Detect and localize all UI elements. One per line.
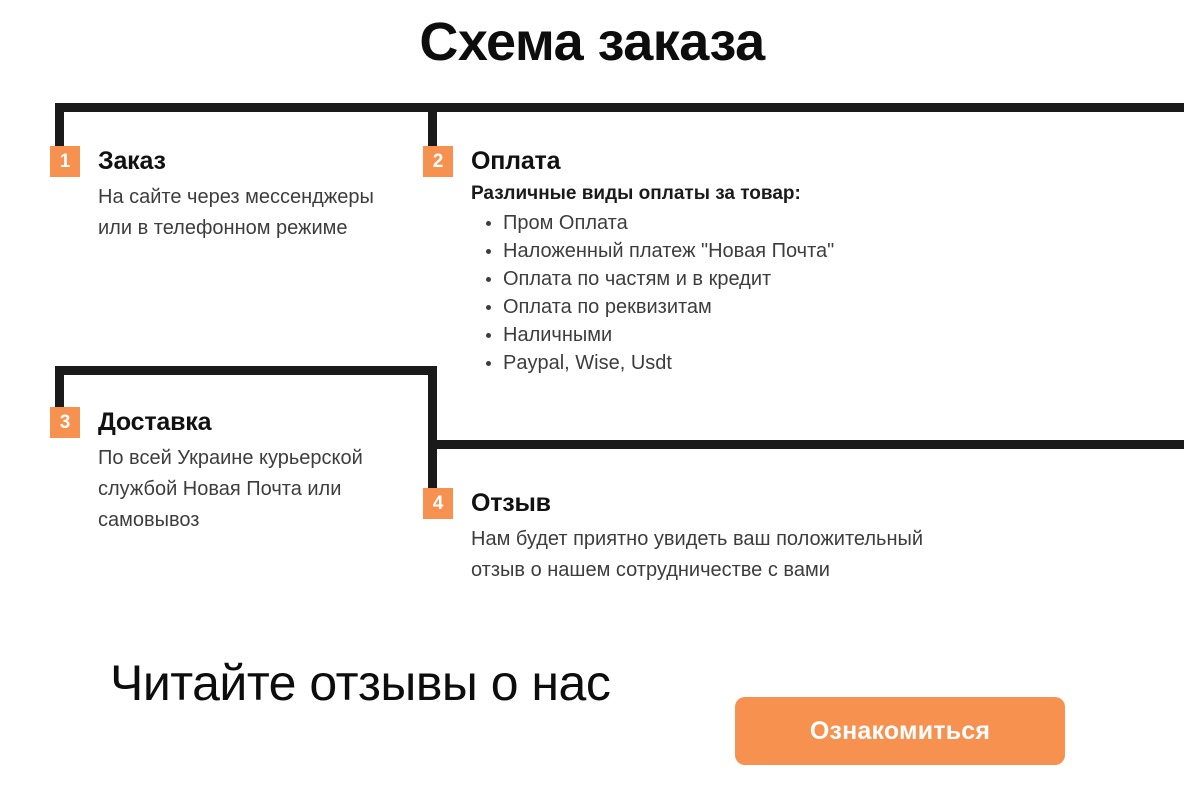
connector-drop-step-1 — [55, 103, 64, 149]
connector-rail-middle — [55, 366, 437, 375]
step-heading-4: Отзыв — [471, 488, 943, 518]
connector-drop-step-2 — [428, 103, 437, 149]
payment-types-list: Пром Оплата Наложенный платеж "Новая Поч… — [471, 209, 963, 377]
connector-drop-step-3 — [55, 366, 64, 411]
step-heading-1: Заказ — [98, 146, 380, 176]
read-reviews-button[interactable]: Ознакомиться — [735, 697, 1065, 765]
connector-drop-step-4 — [428, 366, 437, 492]
step-text-4: Нам будет приятно увидеть ваш положитель… — [471, 524, 943, 586]
list-item: Оплата по частям и в кредит — [471, 265, 963, 293]
payment-types-subtitle: Различные виды оплаты за товар: — [471, 181, 963, 207]
step-heading-3: Доставка — [98, 407, 380, 437]
step-text-1: На сайте через мессенджеры или в телефон… — [98, 182, 380, 244]
step-block-payment: 2 Оплата Различные виды оплаты за товар:… — [423, 146, 963, 377]
step-badge-1: 1 — [50, 146, 80, 177]
list-item: Наложенный платеж "Новая Почта" — [471, 237, 963, 265]
connector-rail-lower — [428, 440, 1184, 449]
step-body-4: Отзыв Нам будет приятно увидеть ваш поло… — [471, 488, 943, 586]
step-badge-3: 3 — [50, 407, 80, 438]
list-item: Оплата по реквизитам — [471, 293, 963, 321]
step-body-3: Доставка По всей Украине курьерской служ… — [98, 407, 380, 536]
list-item: Наличными — [471, 321, 963, 349]
step-badge-2: 2 — [423, 146, 453, 177]
step-body-1: Заказ На сайте через мессенджеры или в т… — [98, 146, 380, 244]
step-text-3: По всей Украине курьерской службой Новая… — [98, 443, 380, 536]
infographic-canvas: Схема заказа 1 Заказ На сайте через месс… — [0, 0, 1184, 800]
list-item: Пром Оплата — [471, 209, 963, 237]
cta-heading: Читайте отзывы о нас — [110, 650, 630, 716]
list-item: Paypal, Wise, Usdt — [471, 349, 963, 377]
step-block-review: 4 Отзыв Нам будет приятно увидеть ваш по… — [423, 488, 943, 586]
step-heading-2: Оплата — [471, 146, 963, 176]
step-body-2: Оплата Различные виды оплаты за товар: П… — [471, 146, 963, 377]
step-block-delivery: 3 Доставка По всей Украине курьерской сл… — [50, 407, 380, 536]
page-title: Схема заказа — [0, 8, 1184, 76]
step-badge-4: 4 — [423, 488, 453, 519]
step-block-order: 1 Заказ На сайте через мессенджеры или в… — [50, 146, 380, 244]
connector-rail-top — [55, 103, 1184, 112]
